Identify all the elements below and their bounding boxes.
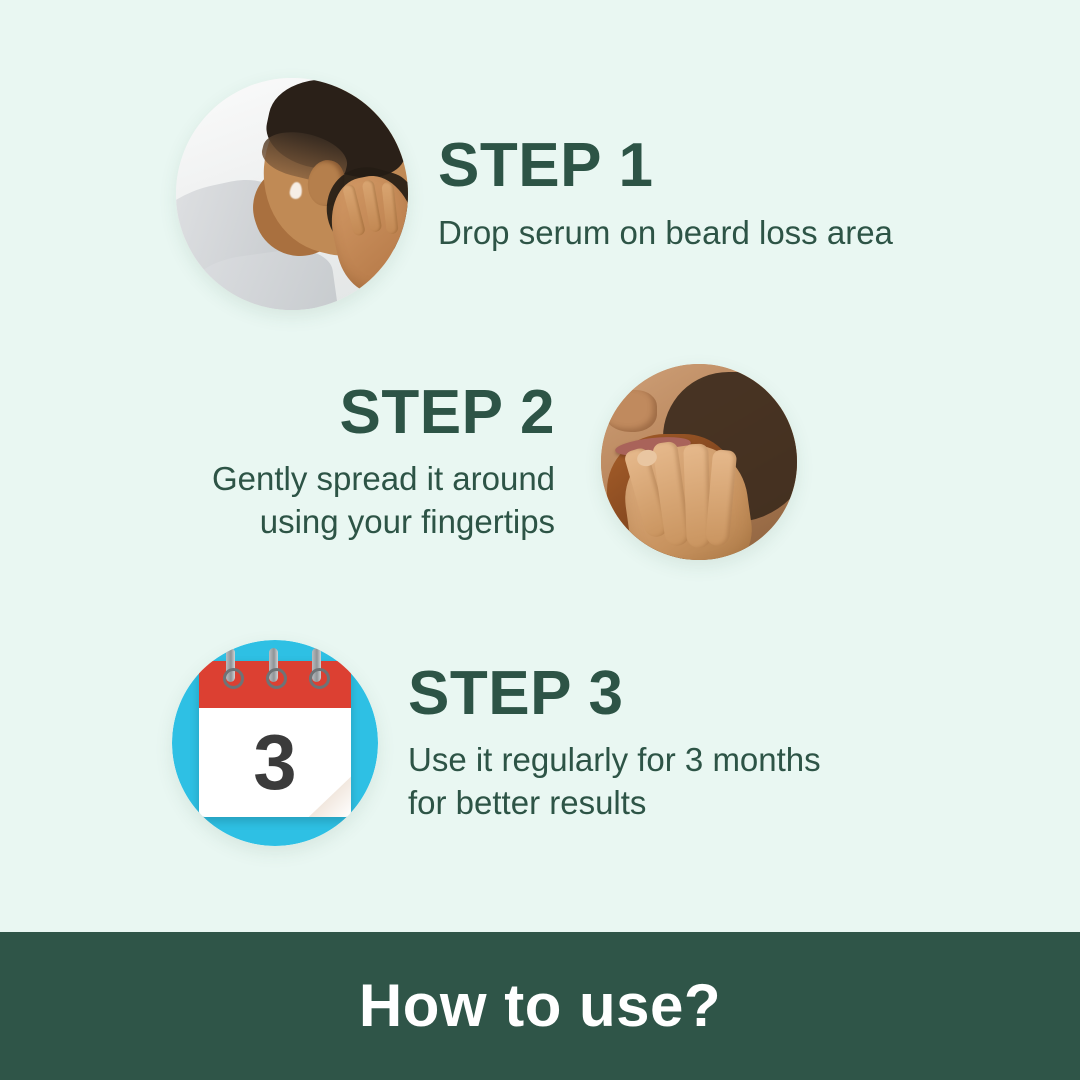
step-row-3: 3 STEP 3 Use it regularly for 3 months f… bbox=[172, 640, 821, 846]
step-row-1: STEP 1 Drop serum on beard loss area bbox=[176, 78, 893, 310]
step-2-description: Gently spread it around using your finge… bbox=[212, 458, 555, 542]
step-3-description: Use it regularly for 3 months for better… bbox=[408, 739, 821, 823]
step-2-copy: STEP 2 Gently spread it around using you… bbox=[212, 381, 555, 543]
step-1-title: STEP 1 bbox=[438, 134, 893, 197]
step-1-description: Drop serum on beard loss area bbox=[438, 212, 893, 254]
calendar-icon: 3 bbox=[172, 640, 378, 846]
calendar-ring-icon bbox=[269, 648, 278, 682]
step-2-title: STEP 2 bbox=[212, 381, 555, 444]
step-3-copy: STEP 3 Use it regularly for 3 months for… bbox=[408, 662, 821, 824]
footer-title: How to use? bbox=[359, 976, 721, 1036]
step-1-copy: STEP 1 Drop serum on beard loss area bbox=[438, 134, 893, 253]
photo-man-spreading-beard-serum bbox=[601, 364, 797, 560]
steps-list: STEP 1 Drop serum on beard loss area STE… bbox=[0, 0, 1080, 932]
step-row-2: STEP 2 Gently spread it around using you… bbox=[212, 364, 797, 560]
step-3-title: STEP 3 bbox=[408, 662, 821, 725]
photo-man-applying-serum bbox=[176, 78, 408, 310]
how-to-use-infographic: STEP 1 Drop serum on beard loss area STE… bbox=[0, 0, 1080, 1080]
calendar-ring-icon bbox=[226, 648, 235, 682]
footer-banner: How to use? bbox=[0, 932, 1080, 1080]
photo2-nose bbox=[603, 390, 657, 432]
calendar-ring-icon bbox=[312, 648, 321, 682]
